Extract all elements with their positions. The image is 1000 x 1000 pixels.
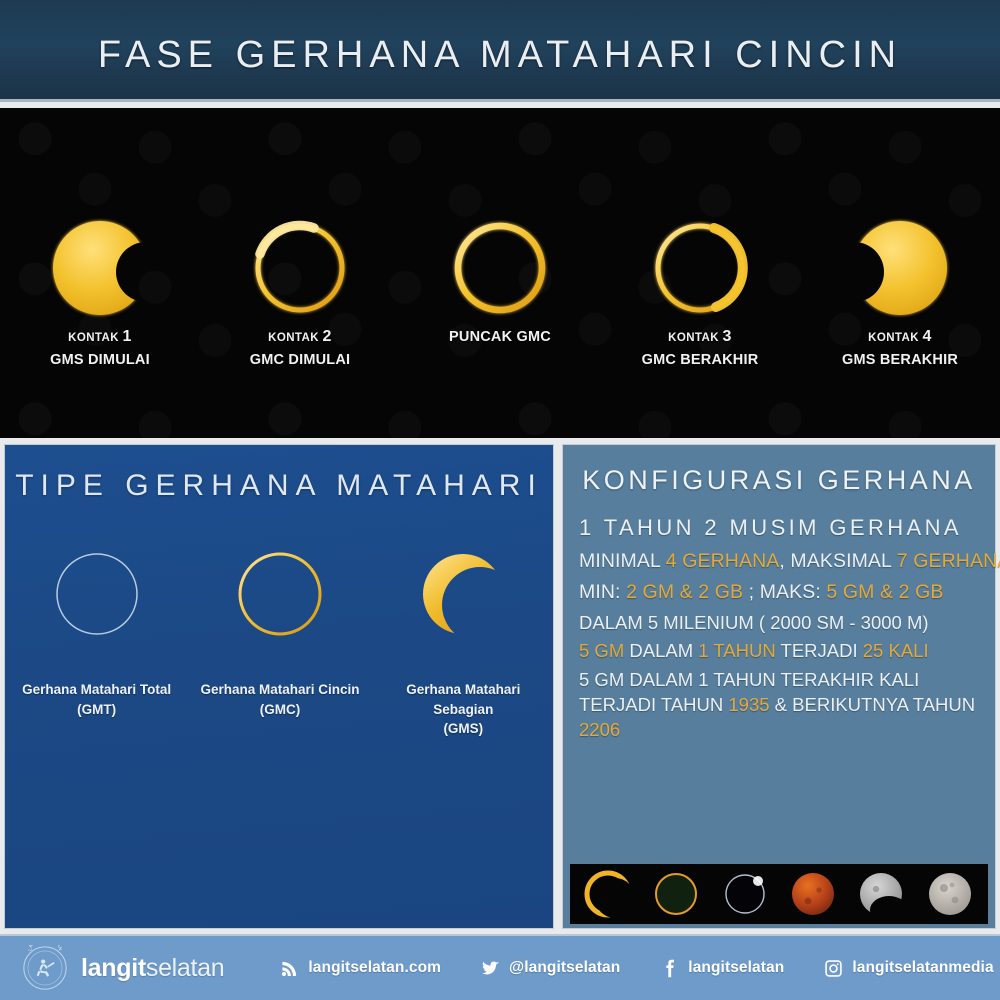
last-seg-3: 2206 [579, 719, 620, 740]
eclipse-type-gmt: Gerhana Matahari Total(GMT) [5, 550, 188, 770]
configuration-lines: 1 TAHUN 2 MUSIM GERHANA MINIMAL 4 GERHAN… [579, 515, 985, 742]
photo-total-solar-corona [719, 868, 771, 920]
gms-label: Gerhana Matahari Sebagian(GMS) [376, 680, 551, 739]
gmc-label: Gerhana Matahari Cincin(GMC) [192, 680, 367, 719]
social-rss[interactable]: langitselatan.com [280, 959, 441, 978]
line-min-maks-detail: MIN: 2 GM & 2 GB ; MAKS: 5 GM & 2 GB [579, 581, 985, 604]
rss-icon [280, 959, 299, 978]
photo-partial-lunar [855, 868, 907, 920]
social-instagram[interactable]: langitselatanmedia [824, 959, 993, 978]
footer-bar: LANGITSELATAN langitselatan [0, 934, 1000, 1000]
freq-seg-1: DALAM [624, 640, 698, 661]
gmt-label-l1: Gerhana Matahari Total [9, 680, 184, 700]
freq-seg-3: TERJADI [776, 640, 863, 661]
kontak-2-disc-annular-ring-thick-topleft [248, 216, 352, 320]
page-title: FASE GERHANA MATAHARI CINCIN [0, 34, 1000, 77]
eclipse-type-gms: Gerhana Matahari Sebagian(GMS) [372, 550, 555, 770]
phase-puncak-gmc: PUNCAK GMC [400, 108, 600, 438]
facebook-icon [660, 959, 679, 978]
instagram-icon [824, 959, 843, 978]
kontak-3-sub: GMC BERAKHIR [600, 350, 800, 371]
panel-eclipse-types: TIPE GERHANA MATAHARI Gerhana Matahari T… [4, 444, 554, 929]
brand-wordmark: langitselatan [81, 954, 224, 983]
puncak-gmc-disc-annular-ring-even [448, 216, 552, 320]
kontak-3-contact-line: KONTAK 3 [600, 326, 800, 349]
kontak-4-number: 4 [923, 328, 932, 345]
kontak-3-caption: KONTAK 3 GMC BERAKHIR [600, 326, 800, 370]
photo-annular-solar [650, 868, 702, 920]
eclipse-photo-strip [570, 864, 988, 924]
brand-light: selatan [146, 954, 225, 982]
phase-kontak-2: KONTAK 2 GMC DIMULAI [200, 108, 400, 438]
eclipse-phases-section: KONTAK 1 GMS DIMULAI KONTAK 2 GMC DIMULA… [0, 108, 1000, 438]
header-bar: FASE GERHANA MATAHARI CINCIN [0, 0, 1000, 102]
brand-bold: langit [81, 954, 146, 982]
last-seg-1: 1935 [728, 694, 769, 715]
photo-crescent-solar [582, 868, 634, 920]
kontak-2-contact-line: KONTAK 2 [200, 326, 400, 349]
kontak-4-caption: KONTAK 4 GMS BERAKHIR [800, 326, 1000, 370]
social-facebook[interactable]: langitselatan [660, 959, 784, 978]
puncak-gmc-sub: PUNCAK GMC [400, 327, 600, 348]
photo-blood-moon [787, 868, 839, 920]
kontak-4-disc-partial-sun-bite-left [848, 216, 952, 320]
kontak-4-contact-line: KONTAK 4 [800, 326, 1000, 349]
min-max-seg-2: , MAKSIMAL [779, 550, 896, 572]
kontak-1-prefix: KONTAK [68, 332, 122, 344]
svg-text:LANGITSELATAN: LANGITSELATAN [27, 945, 63, 952]
phase-kontak-4: KONTAK 4 GMS BERAKHIR [800, 108, 1000, 438]
social-links: langitselatan.com @langitselatan langits… [280, 959, 993, 978]
kontak-4-prefix: KONTAK [868, 332, 922, 344]
line-min-max: MINIMAL 4 GERHANA, MAKSIMAL 7 GERHANA [579, 550, 985, 573]
freq-seg-0: 5 GM [579, 640, 624, 661]
freq-seg-4: 25 KALI [863, 640, 929, 661]
kontak-3-number: 3 [723, 328, 732, 345]
freq-seg-2: 1 TAHUN [698, 640, 775, 661]
photo-full-moon [924, 868, 976, 920]
min-maks-seg-1: 2 GM & 2 GB [626, 581, 743, 603]
social-twitter[interactable]: @langitselatan [481, 959, 620, 978]
eclipse-type-gmc: Gerhana Matahari Cincin(GMC) [188, 550, 371, 770]
min-max-seg-3: 7 GERHANA [897, 550, 1000, 572]
gmt-label-l2: (GMT) [9, 700, 184, 720]
panel-eclipse-configuration: KONFIGURASI GERHANA 1 TAHUN 2 MUSIM GERH… [562, 444, 996, 929]
gms-label-l2: (GMS) [376, 719, 551, 739]
line-last-occurrence: 5 GM DALAM 1 TAHUN TERAKHIR KALI TERJADI… [579, 668, 985, 742]
gms-shape-gold-crescent [419, 550, 507, 638]
line-5gm-frequency: 5 GM DALAM 1 TAHUN TERJADI 25 KALI [579, 640, 985, 662]
gmc-label-l1: Gerhana Matahari Cincin [192, 680, 367, 700]
min-max-seg-0: MINIMAL [579, 550, 666, 572]
kontak-1-disc-partial-sun-bite-right [48, 216, 152, 320]
kontak-1-caption: KONTAK 1 GMS DIMULAI [0, 326, 200, 370]
panel-right-title: KONFIGURASI GERHANA [563, 465, 995, 496]
social-instagram-label: langitselatanmedia [852, 959, 993, 977]
gmc-label-l2: (GMC) [192, 700, 367, 720]
social-facebook-label: langitselatan [688, 959, 784, 977]
kontak-2-prefix: KONTAK [268, 332, 322, 344]
gmc-shape-gold-ring-outline [236, 550, 324, 638]
last-seg-2: & BERIKUTNYA TAHUN [770, 694, 976, 715]
kontak-1-contact-line: KONTAK 1 [0, 326, 200, 349]
kontak-2-number: 2 [323, 328, 332, 345]
twitter-icon [481, 959, 500, 978]
langitselatan-seal-logo: LANGITSELATAN [22, 945, 68, 991]
min-max-seg-1: 4 GERHANA [666, 550, 780, 572]
gmt-label: Gerhana Matahari Total(GMT) [9, 680, 184, 719]
infographic-page: FASE GERHANA MATAHARI CINCIN KONTAK 1 GM… [0, 0, 1000, 1000]
kontak-4-sub: GMS BERAKHIR [800, 350, 1000, 371]
puncak-gmc-caption: PUNCAK GMC [400, 326, 600, 348]
social-twitter-label: @langitselatan [509, 959, 620, 977]
gmt-shape-thin-white-circle-outline [53, 550, 141, 638]
phase-kontak-3: KONTAK 3 GMC BERAKHIR [600, 108, 800, 438]
gms-label-l1: Gerhana Matahari Sebagian [376, 680, 551, 719]
panel-left-title: TIPE GERHANA MATAHARI [5, 469, 553, 503]
kontak-3-disc-annular-ring-thick-right [648, 216, 752, 320]
line-millennium: DALAM 5 MILENIUM ( 2000 SM - 3000 M) [579, 612, 985, 634]
line-seasons: 1 TAHUN 2 MUSIM GERHANA [579, 515, 985, 541]
min-maks-seg-2: ; MAKS: [743, 581, 826, 603]
kontak-2-sub: GMC DIMULAI [200, 350, 400, 371]
min-maks-seg-0: MIN: [579, 581, 626, 603]
social-rss-label: langitselatan.com [308, 959, 441, 977]
kontak-1-sub: GMS DIMULAI [0, 350, 200, 371]
phase-kontak-1: KONTAK 1 GMS DIMULAI [0, 108, 200, 438]
kontak-3-prefix: KONTAK [668, 332, 722, 344]
min-maks-seg-3: 5 GM & 2 GB [826, 581, 943, 603]
brand-block[interactable]: LANGITSELATAN langitselatan [22, 945, 224, 991]
kontak-2-caption: KONTAK 2 GMC DIMULAI [200, 326, 400, 370]
kontak-1-number: 1 [123, 328, 132, 345]
